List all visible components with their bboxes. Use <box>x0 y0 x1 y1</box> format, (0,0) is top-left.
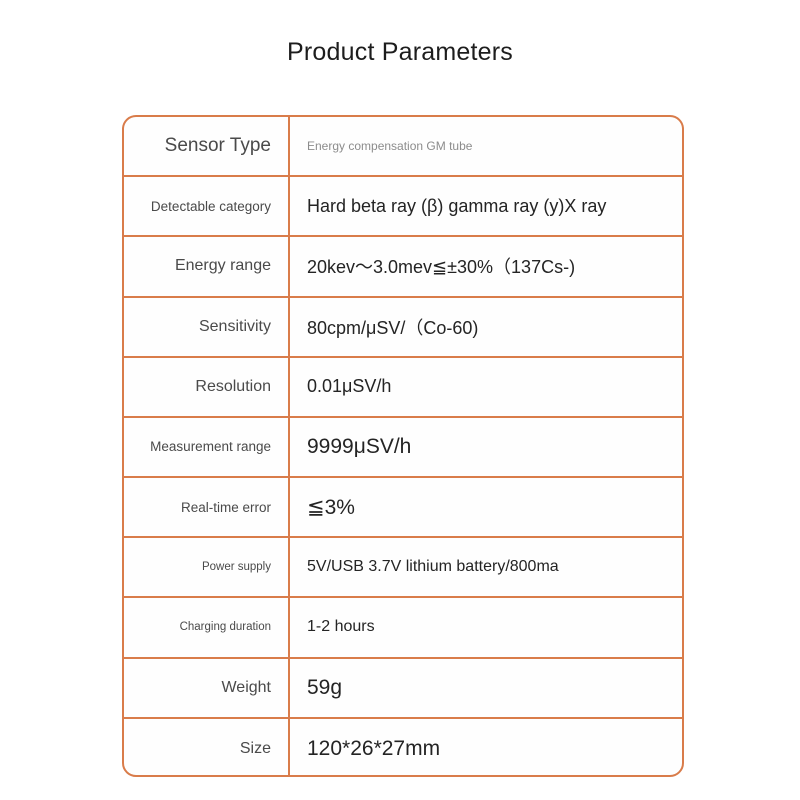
parameter-value-cell: Hard beta ray (β) gamma ray (y)X ray <box>290 177 682 235</box>
table-row: Resolution0.01μSV/h <box>124 358 682 418</box>
parameter-label-cell: Real-time error <box>124 478 290 536</box>
parameter-value-cell: 9999μSV/h <box>290 418 682 476</box>
parameter-label-cell: Weight <box>124 659 290 717</box>
parameter-label-cell: Size <box>124 719 290 777</box>
product-parameters-table: Sensor TypeEnergy compensation GM tubeDe… <box>122 115 684 777</box>
parameter-value-cell: 5V/USB 3.7V lithium battery/800ma <box>290 538 682 596</box>
page-title: Product Parameters <box>0 38 800 67</box>
parameter-label-cell: Resolution <box>124 358 290 416</box>
table-row: Weight59g <box>124 659 682 719</box>
parameter-label-cell: Energy range <box>124 237 290 295</box>
table-row: Real-time error≦3% <box>124 478 682 538</box>
parameter-value-cell: 0.01μSV/h <box>290 358 682 416</box>
table-row: Detectable categoryHard beta ray (β) gam… <box>124 177 682 237</box>
table-row: Sensitivity80cpm/μSV/（Co-60) <box>124 298 682 358</box>
parameter-value-cell: 80cpm/μSV/（Co-60) <box>290 298 682 356</box>
table-row: Charging duration1-2 hours <box>124 598 682 658</box>
parameter-value-cell: Energy compensation GM tube <box>290 117 682 175</box>
table-row: Size120*26*27mm <box>124 719 682 777</box>
parameter-value-cell: 59g <box>290 659 682 717</box>
parameter-label-cell: Measurement range <box>124 418 290 476</box>
table-row: Power supply5V/USB 3.7V lithium battery/… <box>124 538 682 598</box>
table-row: Energy range20kev〜3.0mev≦±30%（137Cs-) <box>124 237 682 297</box>
parameter-label-cell: Sensitivity <box>124 298 290 356</box>
parameter-label-cell: Sensor Type <box>124 117 290 175</box>
parameter-label-cell: Charging duration <box>124 598 290 656</box>
parameter-value-cell: 20kev〜3.0mev≦±30%（137Cs-) <box>290 237 682 295</box>
parameter-value-cell: 1-2 hours <box>290 598 682 656</box>
parameter-value-cell: 120*26*27mm <box>290 719 682 777</box>
table-row: Sensor TypeEnergy compensation GM tube <box>124 117 682 177</box>
parameter-label-cell: Detectable category <box>124 177 290 235</box>
parameter-value-cell: ≦3% <box>290 478 682 536</box>
table-row: Measurement range9999μSV/h <box>124 418 682 478</box>
parameter-label-cell: Power supply <box>124 538 290 596</box>
